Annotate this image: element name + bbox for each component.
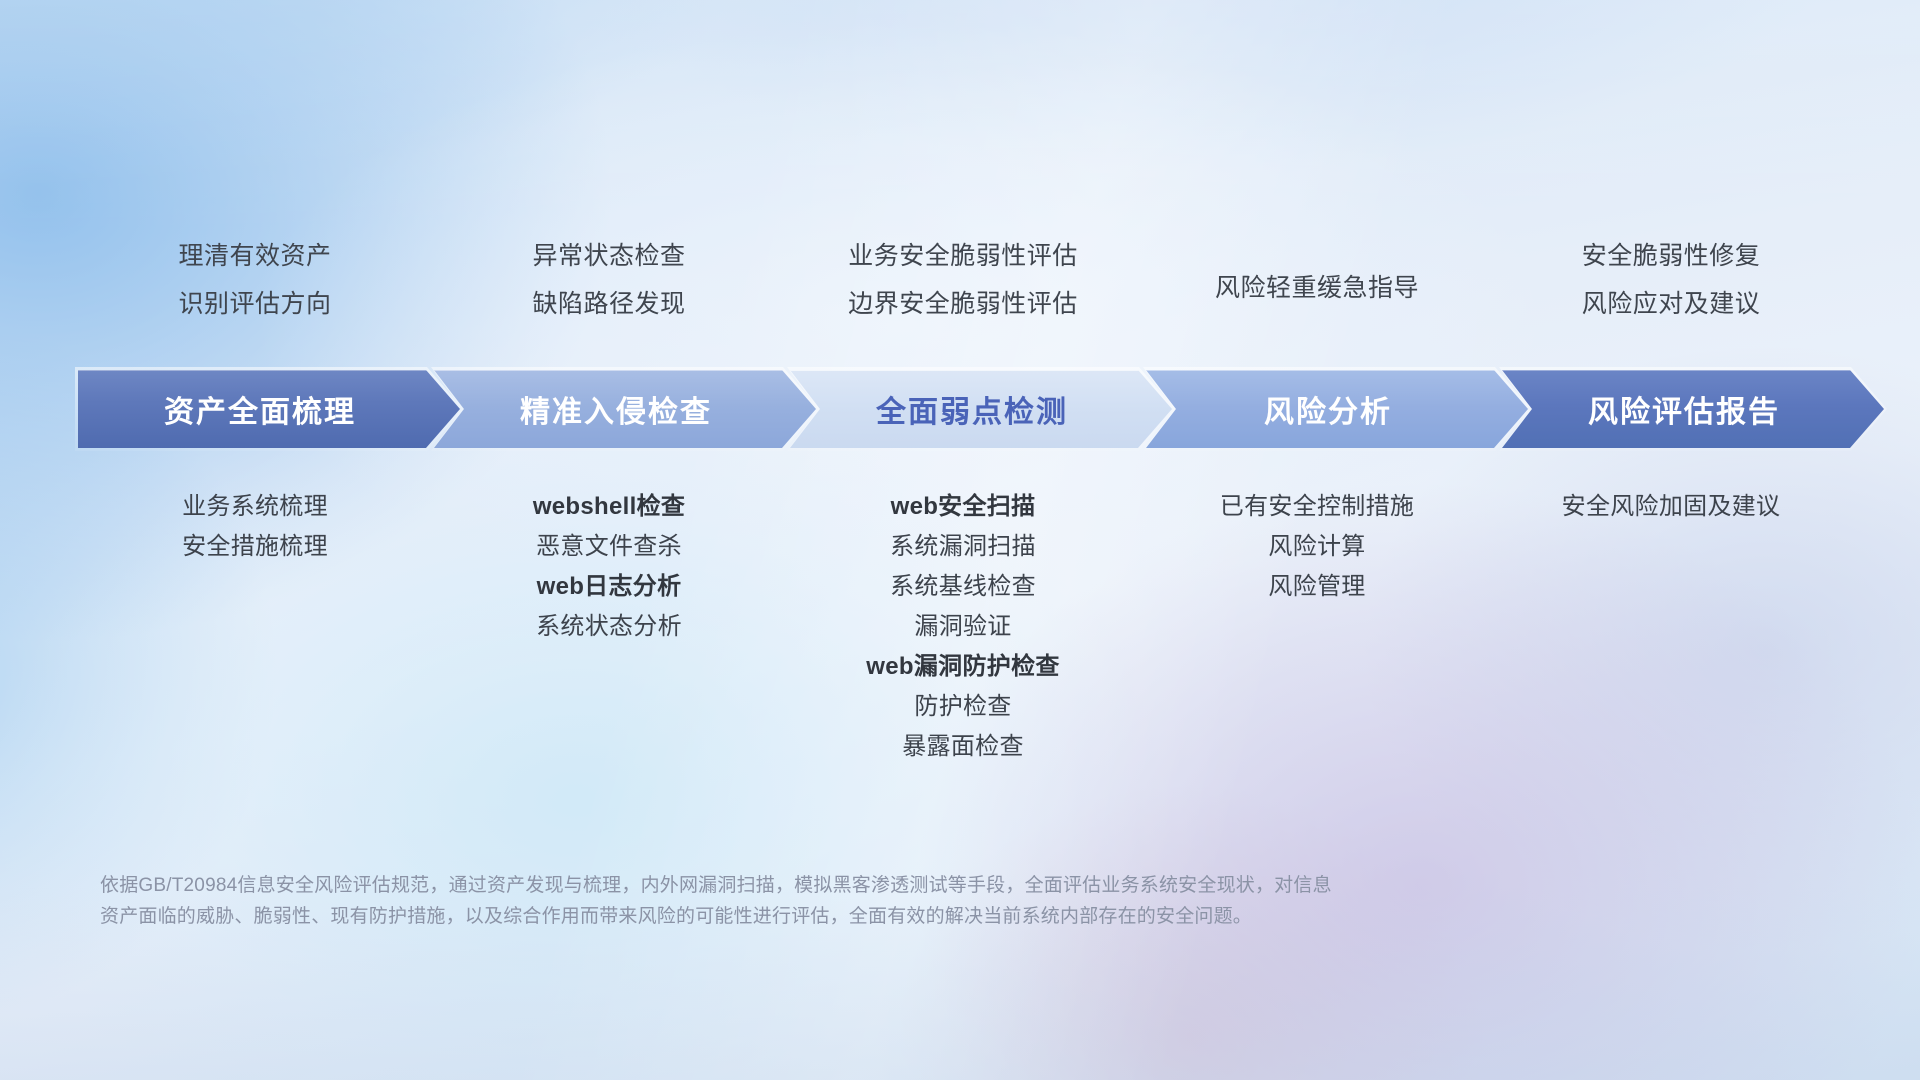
stage-5-activities: 安全风险加固及建议 [1494,487,1848,767]
outcome-text: 识别评估方向 [84,280,426,328]
stage-outcomes-row: 理清有效资产 识别评估方向 异常状态检查 缺陷路径发现 业务安全脆弱性评估 边界… [78,232,1848,328]
stage-3-activities: web安全扫描 系统漏洞扫描 系统基线检查 漏洞验证 web漏洞防护检查 防护检… [786,487,1140,767]
stage-3-outcomes: 业务安全脆弱性评估 边界安全脆弱性评估 [786,232,1140,328]
stage-5-outcomes: 安全脆弱性修复 风险应对及建议 [1494,232,1848,328]
outcome-text: 风险轻重缓急指导 [1146,264,1488,312]
outcome-text: 安全脆弱性修复 [1500,232,1842,280]
activity-item: 漏洞验证 [792,607,1134,647]
activity-item: webshell检查 [438,487,780,527]
chevron-label: 资产全面梳理 [164,387,356,431]
activity-item: web漏洞防护检查 [792,647,1134,687]
activity-item: 业务系统梳理 [84,487,426,527]
chevron-stage-2[interactable]: 精准入侵检查 [434,370,816,448]
outcome-text: 缺陷路径发现 [438,280,780,328]
stage-4-activities: 已有安全控制措施 风险计算 风险管理 [1140,487,1494,767]
activity-item: 系统漏洞扫描 [792,527,1134,567]
stage-4-outcomes: 风险轻重缓急指导 [1140,232,1494,328]
stage-2-activities: webshell检查 恶意文件查杀 web日志分析 系统状态分析 [432,487,786,767]
activity-item: 系统状态分析 [438,607,780,647]
stage-activities-row: 业务系统梳理 安全措施梳理 webshell检查 恶意文件查杀 web日志分析 … [78,487,1848,767]
diagram-content: 理清有效资产 识别评估方向 异常状态检查 缺陷路径发现 业务安全脆弱性评估 边界… [0,0,1920,1080]
outcome-text: 异常状态检查 [438,232,780,280]
chevron-label: 风险分析 [1264,387,1392,431]
outcome-text: 风险应对及建议 [1500,280,1842,328]
activity-item: 风险管理 [1146,567,1488,607]
stage-1-activities: 业务系统梳理 安全措施梳理 [78,487,432,767]
activity-item: 安全风险加固及建议 [1500,487,1842,527]
activity-item: 恶意文件查杀 [438,527,780,567]
chevron-label: 精准入侵检查 [520,387,712,431]
activity-item: 系统基线检查 [792,567,1134,607]
outcome-text: 理清有效资产 [84,232,426,280]
activity-item: web日志分析 [438,567,780,607]
chevron-stage-4[interactable]: 风险分析 [1146,370,1528,448]
activity-item: web安全扫描 [792,487,1134,527]
outcome-text: 业务安全脆弱性评估 [792,232,1134,280]
chevron-stage-3[interactable]: 全面弱点检测 [790,370,1172,448]
footer-line-1: 依据GB/T20984信息安全风险评估规范，通过资产发现与梳理，内外网漏洞扫描，… [100,870,1660,901]
footer-line-2: 资产面临的威胁、脆弱性、现有防护措施，以及综合作用而带来风险的可能性进行评估，全… [100,901,1660,932]
process-chevron-band: 资产全面梳理 精准入侵检查 全面弱点检测 风险分析 风险评估报告 [78,370,1848,448]
activity-item: 风险计算 [1146,527,1488,567]
chevron-stage-1[interactable]: 资产全面梳理 [78,370,460,448]
activity-item: 已有安全控制措施 [1146,487,1488,527]
footer-description: 依据GB/T20984信息安全风险评估规范，通过资产发现与梳理，内外网漏洞扫描，… [100,870,1660,932]
chevron-label: 全面弱点检测 [876,387,1068,431]
activity-item: 暴露面检查 [792,727,1134,767]
diagram-canvas: 理清有效资产 识别评估方向 异常状态检查 缺陷路径发现 业务安全脆弱性评估 边界… [0,0,1920,1080]
chevron-label: 风险评估报告 [1588,387,1780,431]
outcome-text: 边界安全脆弱性评估 [792,280,1134,328]
stage-2-outcomes: 异常状态检查 缺陷路径发现 [432,232,786,328]
activity-item: 安全措施梳理 [84,527,426,567]
stage-1-outcomes: 理清有效资产 识别评估方向 [78,232,432,328]
chevron-stage-5[interactable]: 风险评估报告 [1502,370,1884,448]
activity-item: 防护检查 [792,687,1134,727]
